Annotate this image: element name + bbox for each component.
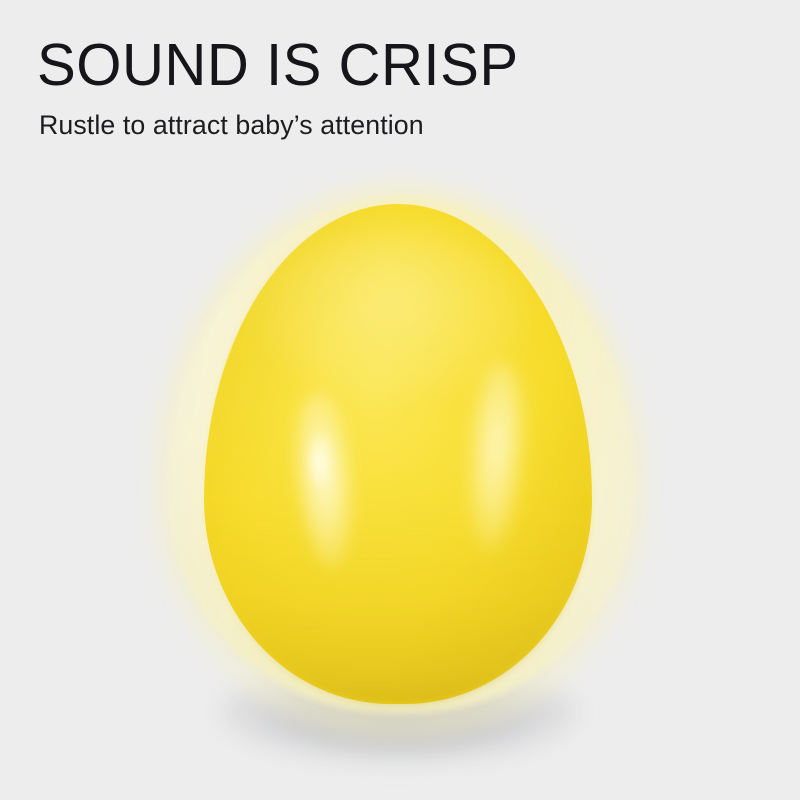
product-poster: SOUND IS CRISP Rustle to attract baby’s … (0, 0, 800, 800)
subtitle: Rustle to attract baby’s attention (37, 96, 730, 142)
headline: SOUND IS CRISP (37, 34, 727, 96)
text-block: SOUND IS CRISP Rustle to attract baby’s … (37, 34, 737, 142)
egg-highlight-spark (308, 432, 332, 488)
egg-top-sheen (262, 226, 524, 396)
